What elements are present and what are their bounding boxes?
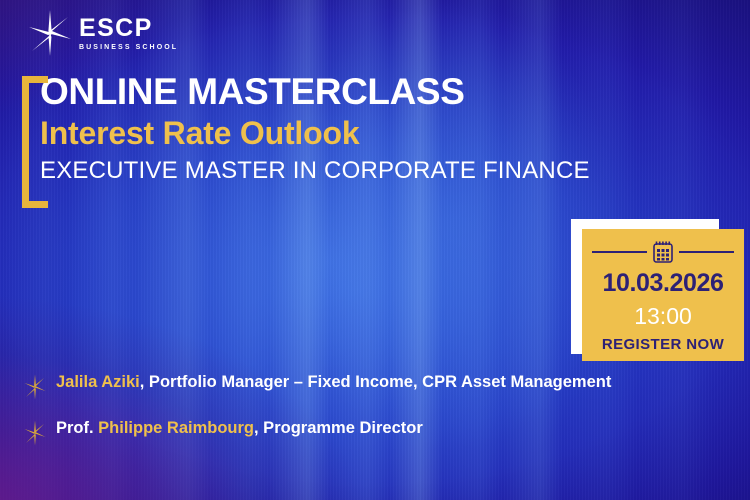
calendar-rule-left xyxy=(592,251,647,253)
escp-logo: ESCP BUSINESS SCHOOL xyxy=(28,9,178,57)
card-body[interactable]: 10.03.2026 13:00 REGISTER NOW xyxy=(582,229,744,361)
escp-name: ESCP xyxy=(79,16,178,41)
star-bullet-icon xyxy=(24,420,46,446)
speaker-name: Philippe Raimbourg xyxy=(98,419,254,437)
poster-canvas: ESCP BUSINESS SCHOOL ONLINE MASTERCLASS … xyxy=(0,0,750,500)
speaker-line: Jalila Aziki, Portfolio Manager – Fixed … xyxy=(56,372,611,393)
list-item: Prof. Philippe Raimbourg, Programme Dire… xyxy=(24,418,684,446)
calendar-row xyxy=(582,239,744,265)
speaker-role: , Portfolio Manager – Fixed Income, CPR … xyxy=(140,373,612,391)
register-now-button[interactable]: REGISTER NOW xyxy=(602,337,724,354)
star-bullet-icon xyxy=(24,374,46,400)
escp-tagline: BUSINESS SCHOOL xyxy=(79,44,178,51)
programme-name: EXECUTIVE MASTER IN CORPORATE FINANCE xyxy=(40,157,622,185)
list-item: Jalila Aziki, Portfolio Manager – Fixed … xyxy=(24,372,684,400)
calendar-icon xyxy=(650,239,676,265)
calendar-rule-right xyxy=(679,251,734,253)
escp-logo-text: ESCP BUSINESS SCHOOL xyxy=(79,16,178,51)
masterclass-topic: Interest Rate Outlook xyxy=(40,115,622,153)
headline-block: ONLINE MASTERCLASS Interest Rate Outlook… xyxy=(22,72,622,185)
speaker-role: , Programme Director xyxy=(254,419,423,437)
headline-text-group: ONLINE MASTERCLASS Interest Rate Outlook… xyxy=(22,72,622,185)
event-time: 13:00 xyxy=(634,304,692,329)
event-date: 10.03.2026 xyxy=(602,270,723,298)
speaker-list: Jalila Aziki, Portfolio Manager – Fixed … xyxy=(24,372,684,464)
speaker-prefix: Prof. xyxy=(56,419,98,437)
speaker-name: Jalila Aziki xyxy=(56,373,140,391)
speaker-line: Prof. Philippe Raimbourg, Programme Dire… xyxy=(56,418,423,439)
date-register-card[interactable]: 10.03.2026 13:00 REGISTER NOW xyxy=(571,219,735,361)
page-title: ONLINE MASTERCLASS xyxy=(40,72,622,112)
bracket-decoration xyxy=(22,76,48,208)
escp-star-icon xyxy=(28,9,72,57)
